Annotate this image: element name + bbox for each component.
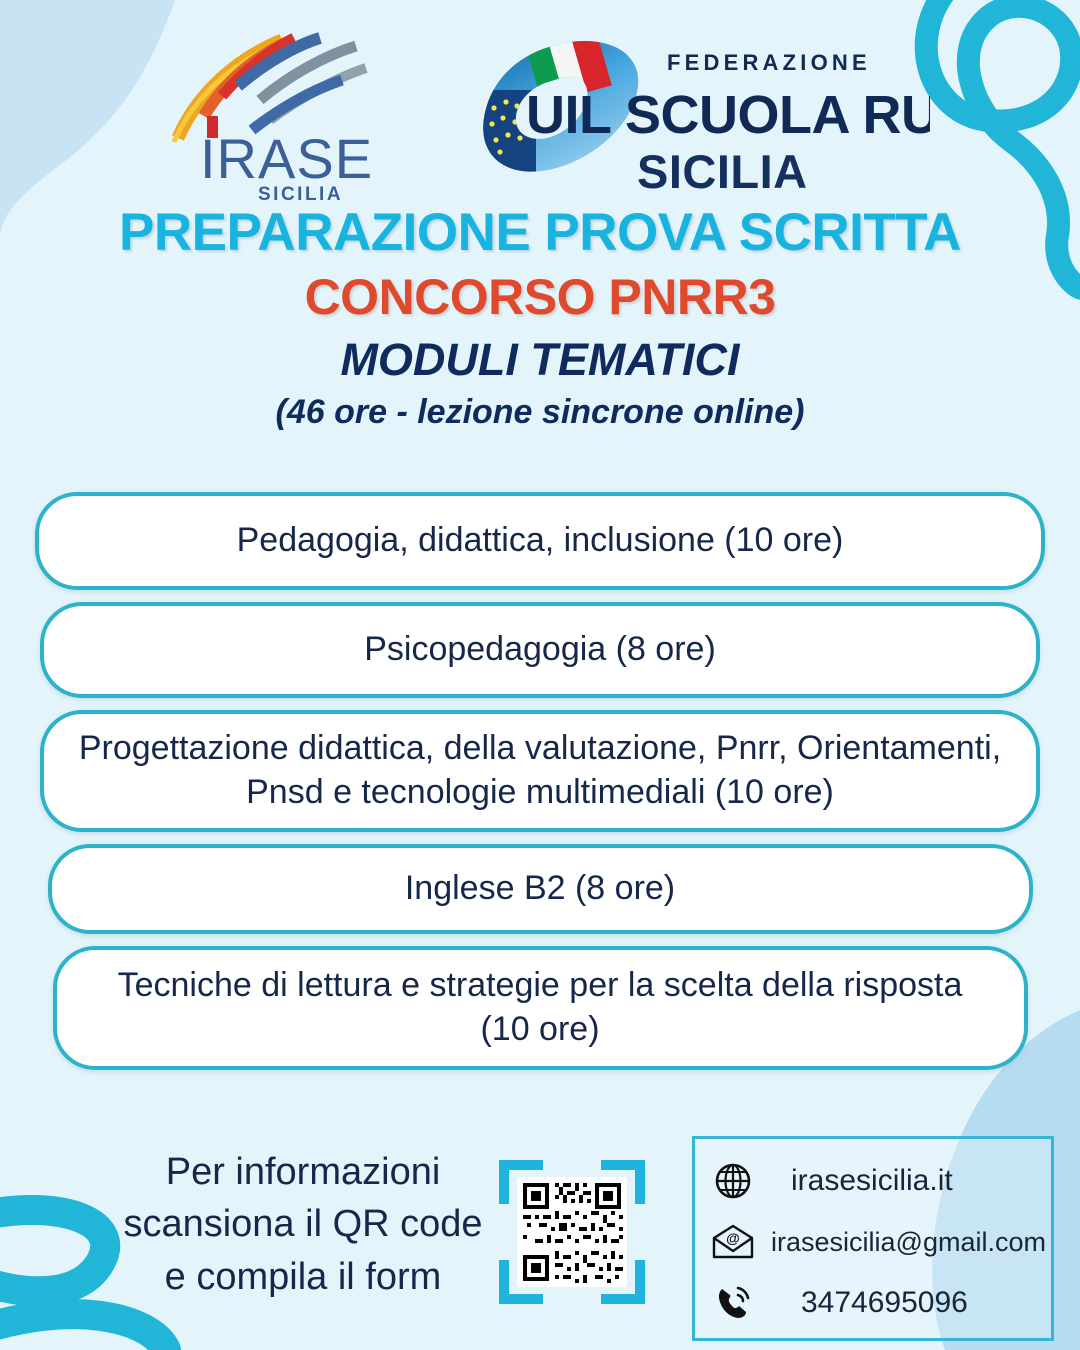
qr-code[interactable] [497, 1158, 647, 1306]
contact-row-website[interactable]: irasesicilia.it [695, 1153, 1051, 1209]
phone-icon [695, 1283, 771, 1323]
svg-text:UIL SCUOLA RUA: UIL SCUOLA RUA [526, 85, 930, 145]
email-value: irasesicilia@gmail.com [771, 1227, 1046, 1258]
title-contest: CONCORSO PNRR3 [0, 271, 1080, 324]
uil-scuola-rua-logo: FEDERAZIONE UIL SCUOLA RUA SICILIA [470, 30, 930, 210]
svg-text:IRASE: IRASE [200, 127, 373, 190]
irase-logo: IRASE SICILIA [160, 30, 390, 205]
poster-root: IRASE SICILIA [0, 0, 1080, 1350]
contact-row-phone[interactable]: 3474695096 [695, 1275, 1051, 1331]
title-hours: (46 ore - lezione sincrone online) [0, 394, 1080, 431]
title-block: PREPARAZIONE PROVA SCRITTA CONCORSO PNRR… [0, 205, 1080, 431]
svg-text:@: @ [726, 1230, 740, 1246]
svg-text:SICILIA: SICILIA [637, 145, 808, 198]
svg-text:SICILIA: SICILIA [258, 184, 343, 205]
qr-instruction-text: Per informazioni scansiona il QR code e … [108, 1146, 498, 1303]
footer: Per informazioni scansiona il QR code e … [0, 1128, 1080, 1350]
contact-box: irasesicilia.it @ irasesicilia@gmail.com [692, 1136, 1054, 1341]
contact-row-email[interactable]: @ irasesicilia@gmail.com [695, 1214, 1051, 1270]
website-value: irasesicilia.it [771, 1164, 953, 1198]
module-card: Progettazione didattica, della valutazio… [40, 710, 1040, 832]
header-logos: IRASE SICILIA [0, 18, 1080, 208]
envelope-icon: @ [695, 1224, 771, 1260]
module-card: Psicopedagogia (8 ore) [40, 602, 1040, 698]
phone-value: 3474695096 [771, 1286, 968, 1320]
module-card: Pedagogia, didattica, inclusione (10 ore… [35, 492, 1045, 590]
title-main: PREPARAZIONE PROVA SCRITTA [0, 205, 1080, 261]
title-modules: MODULI TEMATICI [0, 336, 1080, 384]
svg-text:FEDERAZIONE: FEDERAZIONE [667, 50, 871, 75]
module-card: Tecniche di lettura e strategie per la s… [53, 946, 1028, 1070]
globe-icon [695, 1161, 771, 1201]
modules-list: Pedagogia, didattica, inclusione (10 ore… [0, 492, 1080, 1082]
module-card: Inglese B2 (8 ore) [48, 844, 1033, 934]
